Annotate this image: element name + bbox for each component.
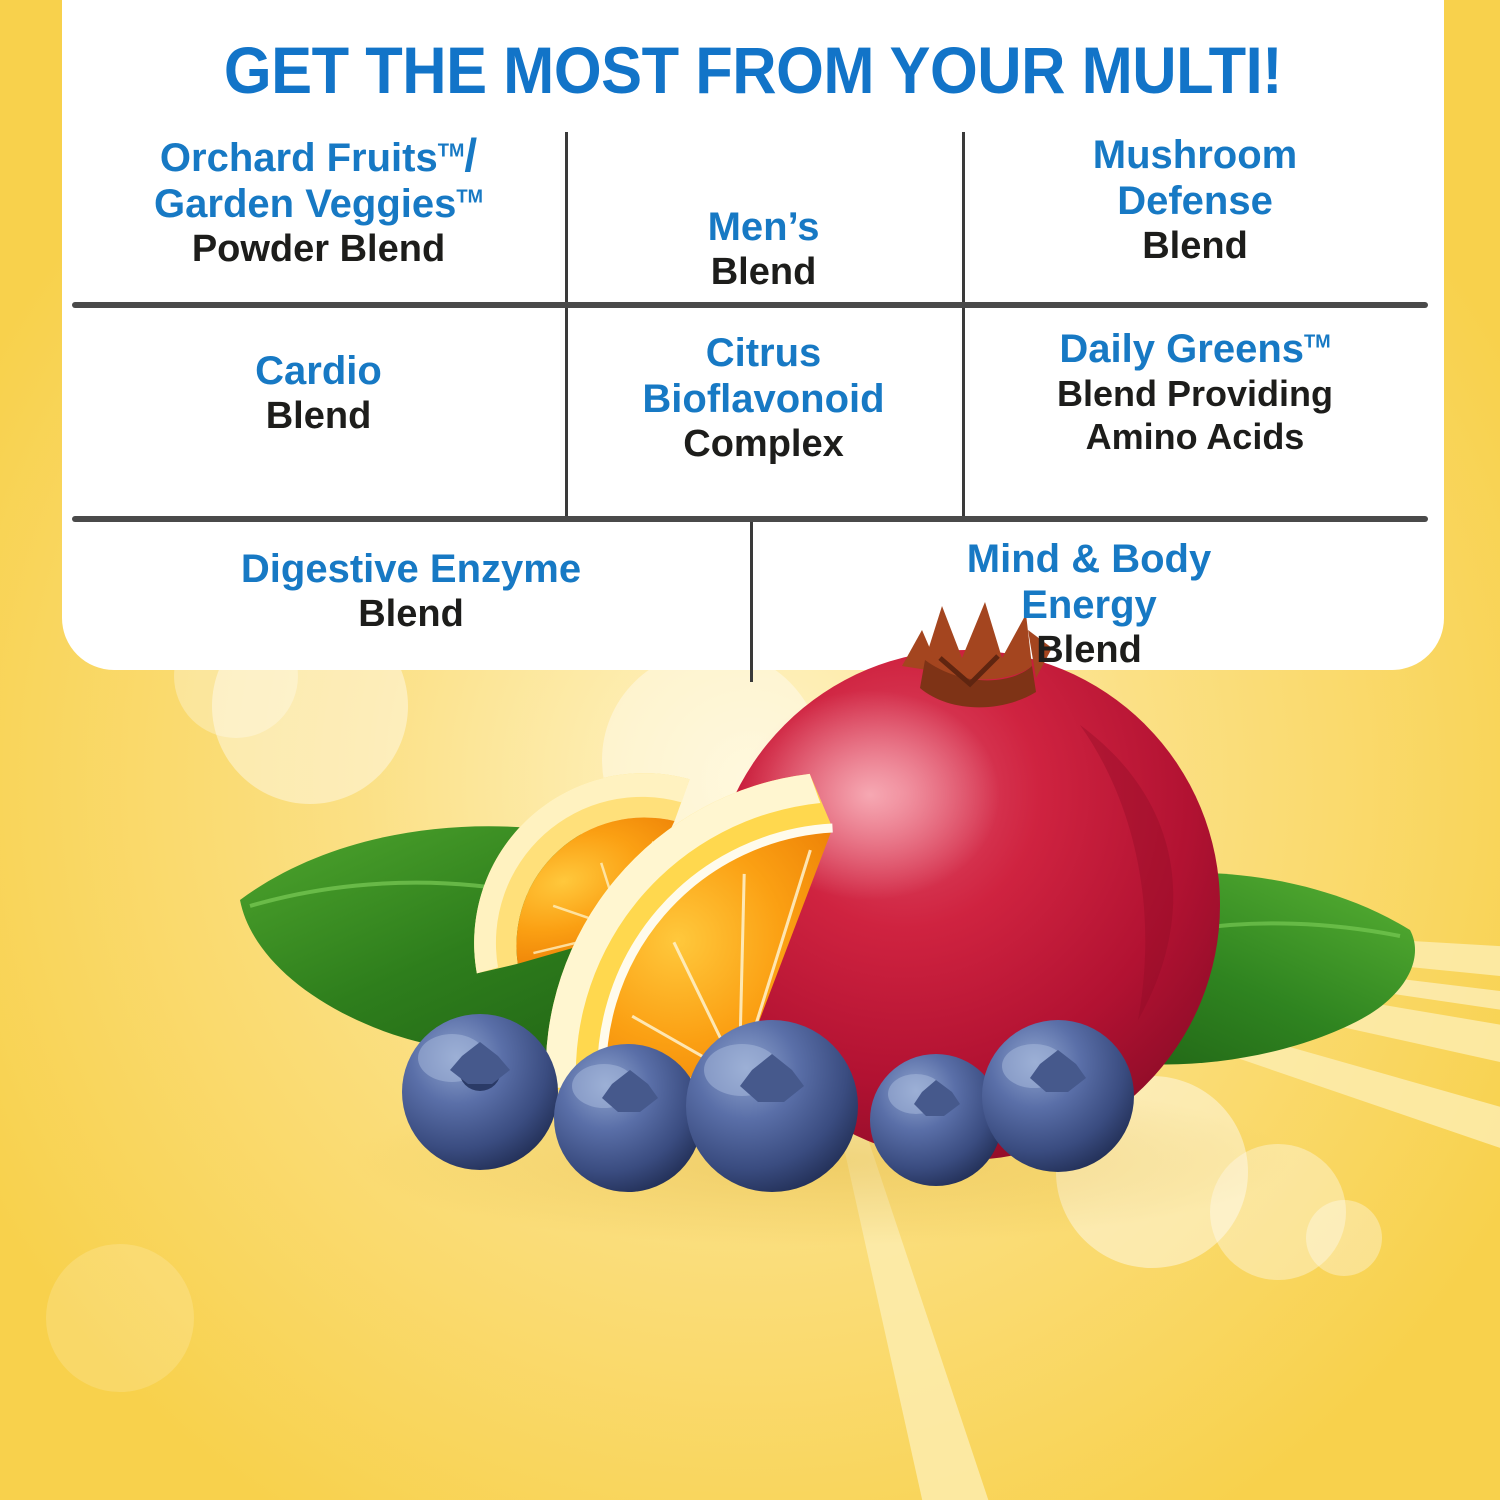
cell-blue-heading: Digestive Enzyme (241, 546, 581, 592)
cell-mushroom-defense-blend[interactable]: Mushroom Defense Blend (962, 132, 1428, 302)
cell-blue-heading: Citrus Bioflavonoid (642, 330, 884, 422)
cell-blue-heading: Orchard FruitsTM/ Garden VeggiesTM (154, 132, 483, 227)
trademark-symbol: TM (456, 186, 483, 207)
slash-separator: / (464, 132, 477, 178)
trademark-symbol: TM (1304, 331, 1331, 352)
table-row: Orchard FruitsTM/ Garden VeggiesTM Powde… (72, 132, 1428, 302)
cell-citrus-bioflavonoid-complex[interactable]: Citrus Bioflavonoid Complex (565, 308, 962, 516)
cell-cardio-blend[interactable]: Cardio Blend (72, 308, 565, 516)
cell-blue-heading: Men’s (708, 204, 820, 250)
cell-blue-heading: Cardio (255, 348, 382, 394)
cell-dark-subtext: Blend (1142, 224, 1248, 268)
cell-mens-blend[interactable]: Men’s Blend (565, 132, 962, 302)
table-row: Cardio Blend Citrus Bioflavonoid Complex… (72, 308, 1428, 516)
blueberry (402, 1014, 558, 1170)
blueberry (982, 1020, 1134, 1172)
cell-blue-heading: Mind & Body Energy (967, 536, 1211, 628)
cell-dark-subtext: Blend Providing Amino Acids (1057, 372, 1333, 458)
cell-blue-heading: Daily GreensTM (1059, 326, 1330, 372)
blueberry (870, 1054, 1002, 1186)
cell-digestive-enzyme-blend[interactable]: Digestive Enzyme Blend (72, 522, 750, 682)
fruit-photo-composition (180, 600, 1460, 1400)
page-title: GET THE MOST FROM YOUR MULTI! (110, 32, 1395, 108)
cell-dark-subtext: Complex (683, 422, 843, 466)
cell-blue-heading: Mushroom Defense (1093, 132, 1297, 224)
blueberry (686, 1020, 858, 1192)
cell-orchard-fruits-garden-veggies[interactable]: Orchard FruitsTM/ Garden VeggiesTM Powde… (72, 132, 565, 302)
trademark-symbol: TM (438, 140, 465, 161)
cell-mind-and-body-energy-blend[interactable]: Mind & Body Energy Blend (750, 522, 1428, 682)
cell-dark-subtext: Blend (1036, 628, 1142, 672)
blend-table: Orchard FruitsTM/ Garden VeggiesTM Powde… (72, 132, 1428, 682)
cell-dark-subtext: Blend (266, 394, 372, 438)
cell-dark-subtext: Blend (711, 250, 817, 294)
blueberry (554, 1044, 702, 1192)
table-row: Digestive Enzyme Blend Mind & Body Energ… (72, 522, 1428, 682)
cell-dark-subtext: Powder Blend (192, 227, 445, 271)
cell-dark-subtext: Blend (358, 592, 464, 636)
cell-daily-greens-blend[interactable]: Daily GreensTM Blend Providing Amino Aci… (962, 308, 1428, 516)
